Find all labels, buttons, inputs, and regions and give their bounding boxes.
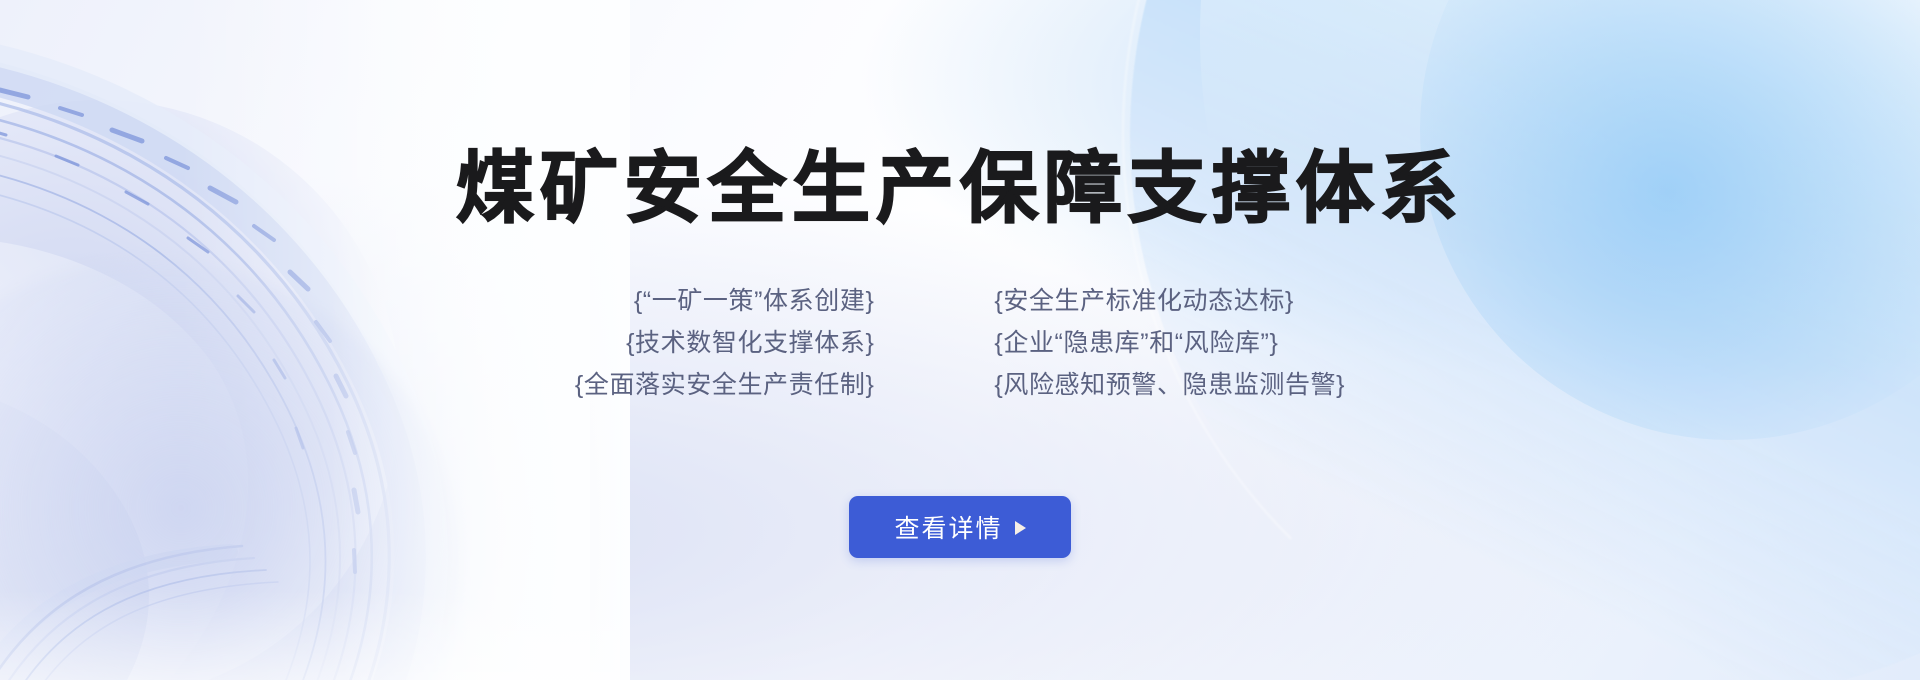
banner-feature-list: {“一矿一策”体系创建} {技术数智化支撑体系} {全面落实安全生产责任制} {…	[0, 286, 1920, 401]
hero-banner: 煤矿安全生产保障支撑体系 {“一矿一策”体系创建} {技术数智化支撑体系} {全…	[0, 0, 1920, 680]
feature-item: {“一矿一策”体系创建}	[634, 286, 875, 317]
feature-item: {安全生产标准化动态达标}	[994, 286, 1294, 317]
banner-title: 煤矿安全生产保障支撑体系	[0, 140, 1920, 236]
cta-row: 查看详情	[0, 496, 1920, 558]
play-triangle-right-icon	[1015, 521, 1026, 535]
view-details-label: 查看详情	[894, 509, 1002, 545]
banner-content: 煤矿安全生产保障支撑体系 {“一矿一策”体系创建} {技术数智化支撑体系} {全…	[0, 0, 1920, 680]
feature-column-right: {安全生产标准化动态达标} {企业“隐患库”和“风险库”} {风险感知预警、隐患…	[994, 286, 1345, 401]
feature-item: {技术数智化支撑体系}	[626, 328, 874, 359]
feature-item: {企业“隐患库”和“风险库”}	[994, 328, 1278, 359]
feature-column-left: {“一矿一策”体系创建} {技术数智化支撑体系} {全面落实安全生产责任制}	[575, 286, 875, 401]
view-details-button[interactable]: 查看详情	[849, 496, 1071, 558]
feature-item: {风险感知预警、隐患监测告警}	[994, 370, 1345, 401]
feature-item: {全面落实安全生产责任制}	[575, 370, 875, 401]
